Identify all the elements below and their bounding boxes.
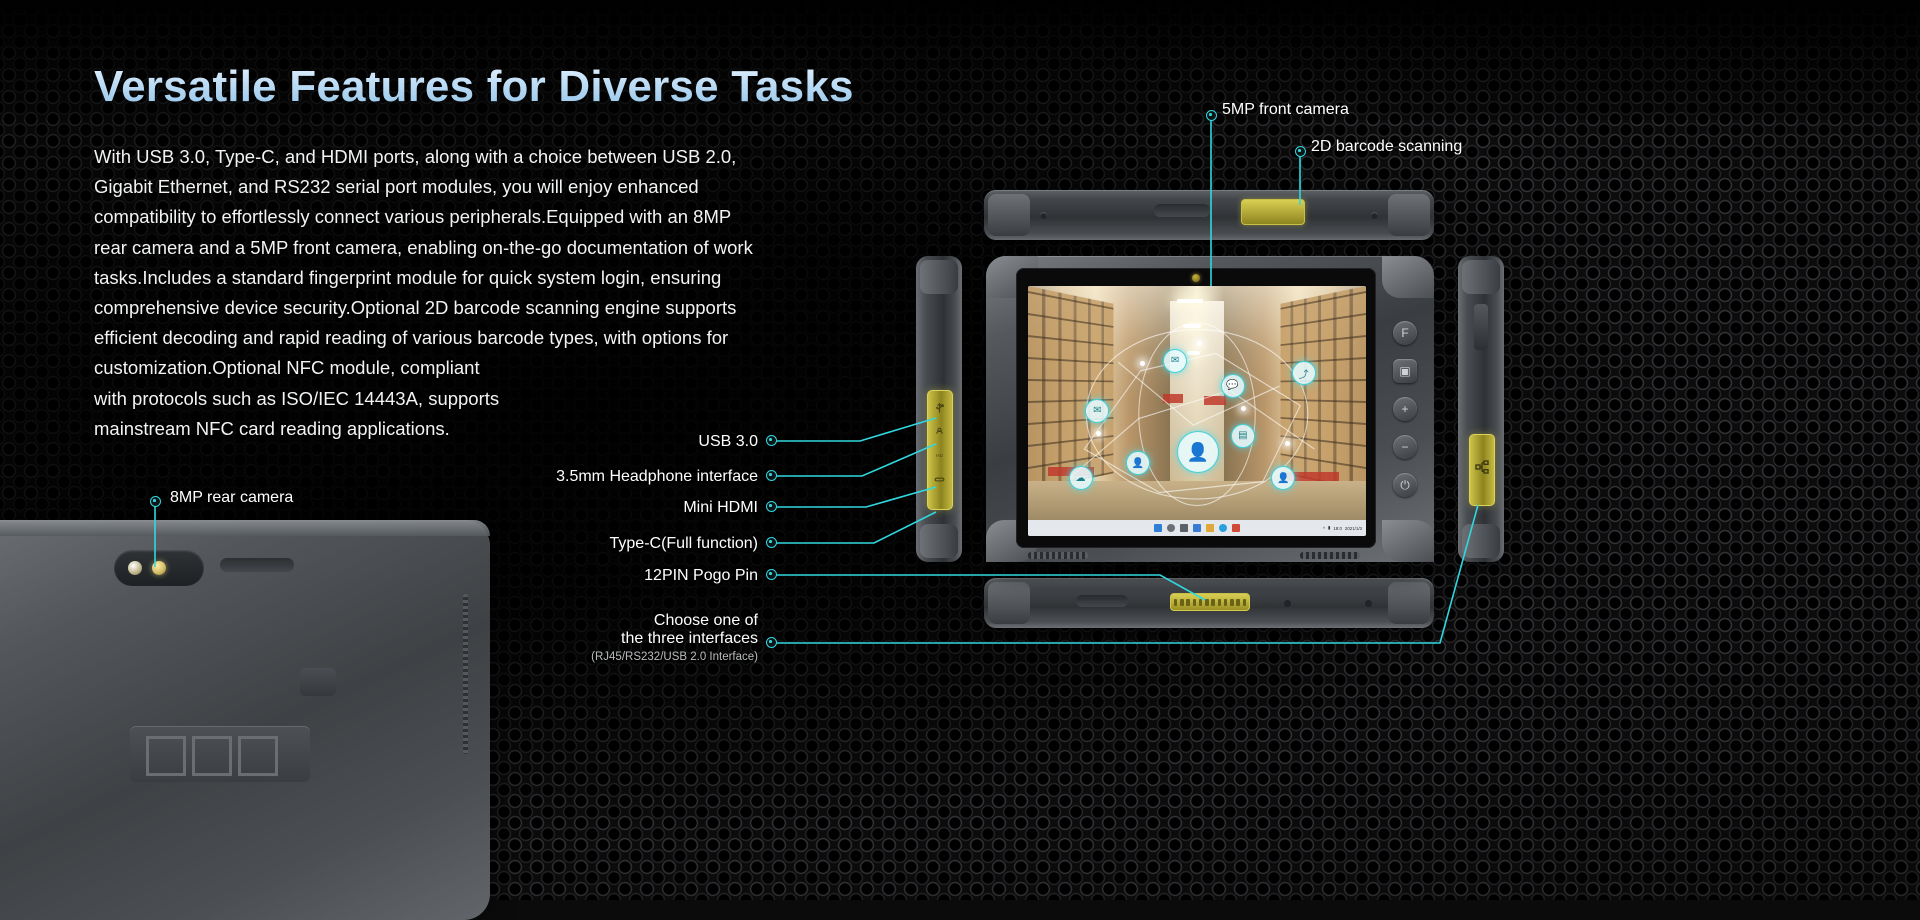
tray-chevron-icon[interactable]: ^	[1323, 526, 1325, 531]
network-node-user-icon: 👤	[1126, 451, 1150, 475]
start-button-icon[interactable]	[1154, 524, 1162, 532]
edge-screw-icon	[1284, 600, 1291, 607]
bottom-edge-slot	[1076, 595, 1128, 607]
shelf-left	[1028, 286, 1113, 491]
callout-label-usb3: USB 3.0	[698, 433, 758, 451]
wifi-icon[interactable]: ▮	[1328, 525, 1330, 531]
paragraph-line: customization.Optional NFC module, compl…	[94, 353, 824, 383]
edge-corner-bumper	[1462, 524, 1500, 558]
paragraph-line: compatibility to effortlessly connect va…	[94, 202, 824, 232]
callout-dot-typec	[766, 537, 777, 548]
speaker-grille	[1300, 552, 1360, 559]
panel-marking	[146, 736, 186, 776]
callout-dot-barcode	[1295, 146, 1306, 157]
speaker-grille	[1028, 552, 1088, 559]
network-node-share-icon: ⤴	[1292, 361, 1316, 385]
io-port-panel: HD	[927, 390, 953, 510]
edge-corner-bumper	[920, 524, 958, 558]
network-node-mail-icon: ✉	[1163, 349, 1187, 373]
edge-browser-icon[interactable]	[1219, 524, 1227, 532]
rear-grip-texture	[463, 594, 468, 754]
callout-label-front-camera: 5MP front camera	[1222, 101, 1349, 119]
paragraph-line: With USB 3.0, Type-C, and HDMI ports, al…	[94, 142, 824, 172]
windows-button[interactable]: ▣	[1393, 359, 1417, 383]
svg-text:HD: HD	[936, 453, 944, 459]
function-button[interactable]: F	[1393, 321, 1417, 345]
callout-label-hdmi: Mini HDMI	[683, 499, 758, 517]
callout-dot-pogo	[766, 569, 777, 580]
volume-up-button[interactable]: +	[1393, 397, 1417, 421]
network-port-icon	[1474, 459, 1490, 475]
callout-label-pogo: 12PIN Pogo Pin	[644, 567, 758, 585]
front-camera-icon	[1192, 274, 1200, 282]
power-button[interactable]: ⏻	[1393, 473, 1417, 497]
edge-screw-icon	[1040, 212, 1047, 219]
file-explorer-icon[interactable]	[1206, 524, 1214, 532]
task-view-icon[interactable]	[1180, 524, 1188, 532]
edge-corner-bumper	[988, 194, 1030, 236]
edge-corner-bumper	[1462, 260, 1500, 294]
device-bottom-edge-view	[984, 578, 1434, 628]
display-bezel: ✉ ✉ 💬 ⤴ ▤ ☁ 👤 👤 👤 ^ ▮	[1016, 268, 1376, 548]
interfaces-subnote: (RJ45/RS232/USB 2.0 Interface)	[591, 651, 758, 663]
callout-dot-usb3	[766, 435, 777, 446]
callout-label-headphone: 3.5mm Headphone interface	[556, 468, 758, 486]
network-node-chat-icon: 💬	[1221, 374, 1245, 398]
page-title: Versatile Features for Diverse Tasks	[94, 62, 854, 112]
callout-label-interfaces: Choose one of the three interfaces (RJ45…	[591, 612, 758, 663]
edge-corner-bumper	[920, 260, 958, 294]
network-node-mail-icon: ✉	[1085, 399, 1109, 423]
callout-dot-hdmi	[766, 501, 777, 512]
rear-expansion-panel	[130, 726, 310, 782]
callout-label-typec: Type-C(Full function)	[610, 535, 759, 553]
paragraph-line: Gigabit Ethernet, and RS232 serial port …	[94, 172, 824, 202]
clock-date: 2021/1/3	[1345, 526, 1362, 531]
interfaces-line-1: Choose one of	[591, 612, 758, 630]
side-buttons-cluster[interactable]	[1474, 304, 1488, 350]
rear-camera-lens-icon	[152, 561, 166, 575]
device-left-edge-view: HD	[916, 256, 962, 562]
network-node-primary-user-icon: 👤	[1177, 431, 1219, 473]
panel-marking	[238, 736, 278, 776]
callout-label-barcode: 2D barcode scanning	[1311, 138, 1462, 156]
search-icon[interactable]	[1167, 524, 1175, 532]
edge-screw-icon	[1365, 600, 1372, 607]
paragraph-line: with protocols such as ISO/IEC 14443A, s…	[94, 384, 824, 414]
front-side-button-column[interactable]: F ▣ + − ⏻	[1382, 278, 1428, 540]
callout-dot-headphone	[766, 470, 777, 481]
widgets-icon[interactable]	[1193, 524, 1201, 532]
display-screen[interactable]: ✉ ✉ 💬 ⤴ ▤ ☁ 👤 👤 👤 ^ ▮	[1028, 286, 1366, 536]
description-paragraph: With USB 3.0, Type-C, and HDMI ports, al…	[94, 142, 824, 444]
pogo-pin-connector	[1170, 593, 1250, 611]
device-right-edge-view	[1458, 256, 1504, 562]
hdmi-icon: HD	[933, 449, 946, 462]
callout-label-rear-camera: 8MP rear camera	[170, 489, 293, 507]
callout-dot-front-camera	[1206, 110, 1217, 121]
rear-vent-strip	[220, 558, 294, 572]
paragraph-line: rear camera and a 5MP front camera, enab…	[94, 233, 824, 263]
interfaces-line-2: the three interfaces	[591, 630, 758, 648]
paragraph-line: tasks.Includes a standard fingerprint mo…	[94, 263, 824, 293]
edge-corner-bumper	[1388, 582, 1430, 624]
shelf-right	[1281, 286, 1366, 491]
headphone-jack-icon	[933, 425, 946, 438]
callout-dot-interfaces	[766, 637, 777, 648]
edge-corner-bumper	[988, 582, 1030, 624]
rear-label-plate	[300, 668, 336, 696]
device-top-edge-view	[984, 190, 1434, 240]
edge-corner-bumper	[1388, 194, 1430, 236]
device-front-view: ✉ ✉ 💬 ⤴ ▤ ☁ 👤 👤 👤 ^ ▮	[986, 256, 1434, 562]
volume-down-button[interactable]: −	[1393, 435, 1417, 459]
top-edge-slot	[1154, 204, 1210, 217]
panel-marking	[192, 736, 232, 776]
clock-time: 18:0	[1333, 526, 1342, 531]
warehouse-wallpaper: ✉ ✉ 💬 ⤴ ▤ ☁ 👤 👤 👤	[1028, 286, 1366, 536]
rear-shell	[0, 520, 490, 920]
windows-taskbar[interactable]: ^ ▮ 18:0 2021/1/3	[1028, 520, 1366, 536]
paragraph-line: comprehensive device security.Optional 2…	[94, 293, 824, 323]
edge-screw-icon	[1371, 212, 1378, 219]
system-tray[interactable]: ^ ▮ 18:0 2021/1/3	[1323, 525, 1362, 531]
paragraph-line: efficient decoding and rapid reading of …	[94, 323, 824, 353]
callout-dot-rear-camera	[150, 496, 161, 507]
device-rear-view	[0, 520, 490, 920]
expansion-module-panel	[1469, 434, 1495, 506]
rear-camera-island	[114, 550, 204, 586]
rear-flash-lens-icon	[128, 561, 142, 575]
network-node-cloud-icon: ☁	[1069, 466, 1093, 490]
usb-icon	[933, 401, 946, 414]
app-icon[interactable]	[1232, 524, 1240, 532]
network-node-chart-icon: ▤	[1231, 424, 1255, 448]
rear-top-edge	[0, 520, 490, 536]
barcode-scanner-window	[1241, 199, 1305, 225]
type-c-icon	[933, 473, 946, 486]
